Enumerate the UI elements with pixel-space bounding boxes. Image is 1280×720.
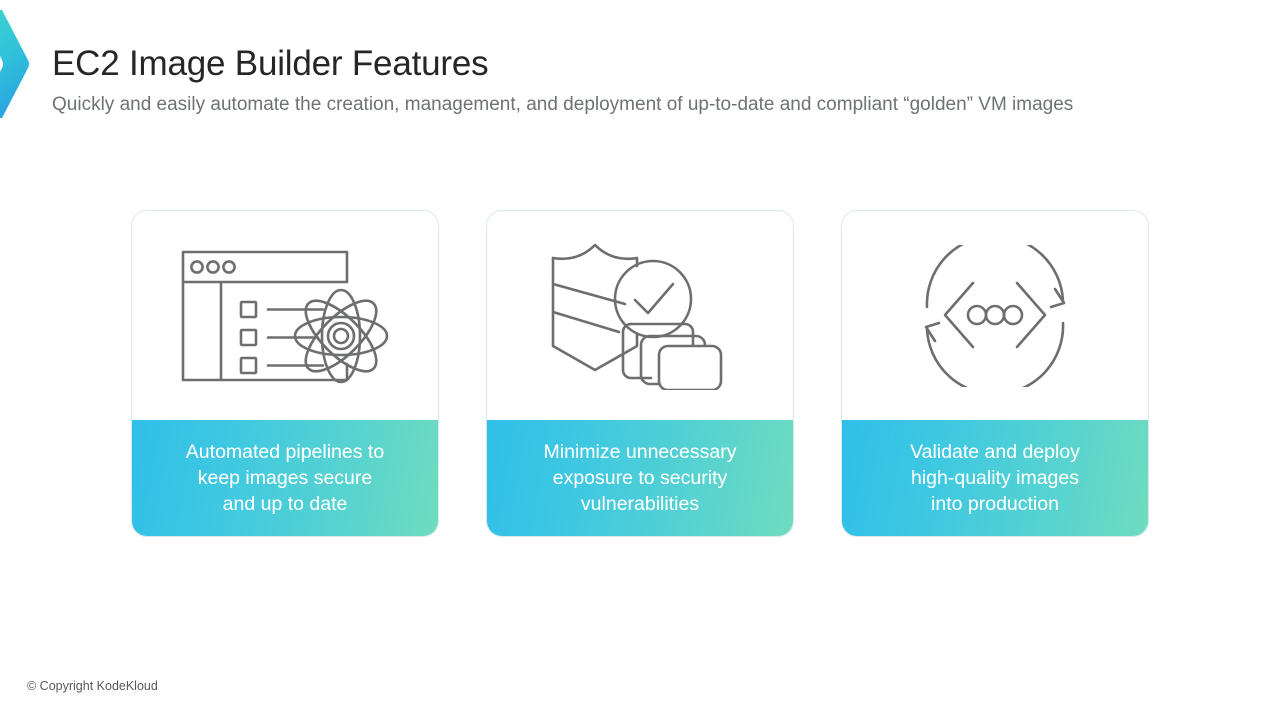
- card-icon-area: [487, 211, 793, 420]
- slide-header: EC2 Image Builder Features Quickly and e…: [52, 44, 1252, 117]
- feature-cards-row: Automated pipelines to keep images secur…: [131, 210, 1149, 537]
- card-caption: Minimize unnecessary exposure to securit…: [487, 420, 793, 536]
- card-caption: Automated pipelines to keep images secur…: [132, 420, 438, 536]
- feature-card-minimize-exposure[interactable]: Minimize unnecessary exposure to securit…: [486, 210, 794, 537]
- card-caption-text: Automated pipelines to keep images secur…: [186, 439, 384, 517]
- shield-check-stack-icon: [547, 242, 733, 390]
- sync-code-brackets-icon: [915, 245, 1075, 387]
- page-subtitle: Quickly and easily automate the creation…: [52, 94, 1252, 117]
- card-icon-area: [842, 211, 1148, 420]
- kodekloud-chevron-logo: [0, 8, 30, 120]
- browser-checklist-atom-icon: [179, 246, 391, 386]
- feature-card-validate-deploy[interactable]: Validate and deploy high-quality images …: [841, 210, 1149, 537]
- card-caption: Validate and deploy high-quality images …: [842, 420, 1148, 536]
- footer-copyright: © Copyright KodeKloud: [27, 679, 158, 693]
- feature-card-automated-pipelines[interactable]: Automated pipelines to keep images secur…: [131, 210, 439, 537]
- card-caption-text: Minimize unnecessary exposure to securit…: [544, 439, 737, 517]
- card-caption-text: Validate and deploy high-quality images …: [910, 439, 1080, 517]
- card-icon-area: [132, 211, 438, 420]
- page-title: EC2 Image Builder Features: [52, 44, 1252, 84]
